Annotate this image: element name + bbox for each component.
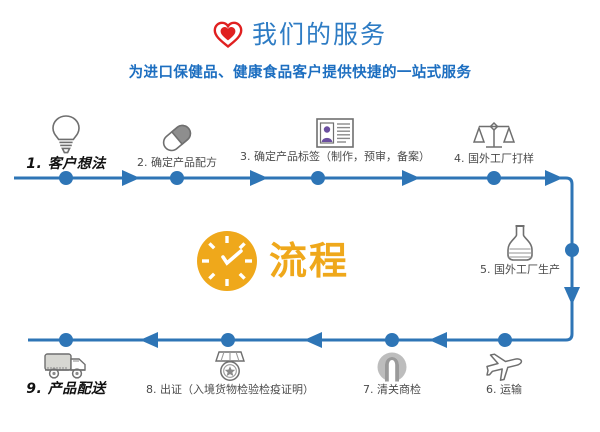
clock-icon	[196, 230, 258, 292]
step-1[interactable]: 1. 客户想法	[6, 114, 126, 172]
step-8[interactable]: 8. 出证（入境货物检验检疫证明）	[130, 350, 330, 396]
lightbulb-icon	[49, 114, 83, 154]
center-badge: 流程	[196, 230, 349, 292]
step-2-label: 2. 确定产品配方	[137, 157, 217, 169]
center-badge-label: 流程	[269, 242, 349, 280]
page-subtitle: 为进口保健品、健康食品客户提供快捷的一站式服务	[0, 61, 600, 82]
id-label-icon	[316, 118, 354, 148]
step-1-label: 1. 客户想法	[26, 157, 105, 172]
step-6[interactable]: 6. 运输	[448, 352, 560, 396]
step-5-label: 5. 国外工厂生产	[480, 264, 560, 276]
step-9[interactable]: 9. 产品配送	[6, 350, 126, 397]
inspector-icon	[376, 352, 408, 382]
step-7[interactable]: 7. 清关商检	[336, 352, 448, 396]
step-9-label: 9. 产品配送	[26, 382, 105, 397]
flask-bottle-icon	[505, 224, 535, 262]
step-4[interactable]: 4. 国外工厂打样	[434, 120, 554, 165]
infographic-canvas: 我们的服务 为进口保健品、健康食品客户提供快捷的一站式服务	[0, 0, 600, 432]
step-6-label: 6. 运输	[486, 384, 522, 396]
heart-icon	[213, 21, 243, 48]
capsule-pill-icon	[160, 122, 194, 154]
page-title: 我们的服务	[252, 22, 387, 47]
airplane-icon	[484, 352, 524, 382]
step-2[interactable]: 2. 确定产品配方	[117, 122, 237, 169]
delivery-truck-icon	[43, 350, 89, 380]
step-4-label: 4. 国外工厂打样	[454, 153, 534, 165]
step-3[interactable]: 3. 确定产品标签（制作，预审，备案）	[235, 118, 435, 163]
step-8-label: 8. 出证（入境货物检验检疫证明）	[146, 384, 314, 396]
title-row: 我们的服务	[0, 14, 600, 54]
step-3-label: 3. 确定产品标签（制作，预审，备案）	[240, 151, 430, 163]
step-7-label: 7. 清关商检	[363, 384, 421, 396]
certificate-icon	[213, 350, 247, 382]
scales-icon	[473, 120, 515, 150]
header: 我们的服务 为进口保健品、健康食品客户提供快捷的一站式服务	[0, 0, 600, 82]
step-5[interactable]: 5. 国外工厂生产	[466, 224, 574, 276]
